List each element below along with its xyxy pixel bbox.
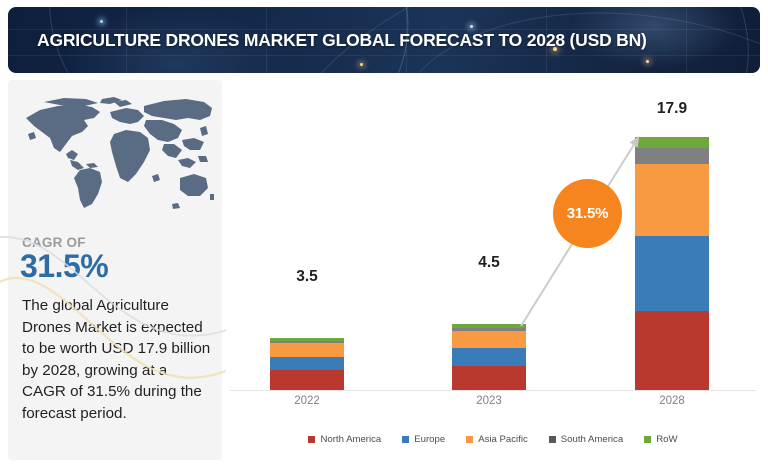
- bar-segment-europe: [635, 236, 709, 311]
- bar-segment-europe: [270, 357, 344, 370]
- legend-label: Asia Pacific: [478, 434, 528, 445]
- bar-column-2028[interactable]: [635, 137, 709, 390]
- bar-column-2023[interactable]: [452, 324, 526, 390]
- x-axis-label-2023: 2023: [434, 395, 544, 407]
- left-info-panel: CAGR OF 31.5% The global Agriculture Dro…: [8, 80, 222, 460]
- legend-item-south-america[interactable]: South America: [549, 434, 623, 445]
- cagr-bubble: 31.5%: [553, 179, 622, 248]
- bar-segment-europe: [452, 348, 526, 366]
- banner-gridline: [686, 7, 687, 73]
- bar-segment-asia-pacific: [452, 331, 526, 348]
- bar-segment-row: [635, 137, 709, 148]
- legend-item-row[interactable]: RoW: [644, 434, 677, 445]
- bar-total-2028: 17.9: [617, 100, 727, 118]
- chart-panel: 3.5 4.5 17.9 2022 2023 2028 31.5%: [226, 80, 760, 460]
- cagr-value: 31.5%: [20, 248, 108, 285]
- legend-swatch-north-america: [308, 436, 315, 443]
- infographic-root: AGRICULTURE DRONES MARKET GLOBAL FORECAS…: [0, 0, 768, 468]
- summary-paragraph: The global Agriculture Drones Market is …: [22, 295, 212, 424]
- bar-total-2022: 3.5: [252, 268, 362, 286]
- bar-total-2023: 4.5: [434, 254, 544, 272]
- legend-swatch-europe: [402, 436, 409, 443]
- bar-column-2022[interactable]: [270, 338, 344, 390]
- bar-segment-asia-pacific: [635, 164, 709, 236]
- page-title: AGRICULTURE DRONES MARKET GLOBAL FORECAS…: [37, 7, 647, 73]
- bar-segment-south-america: [635, 148, 709, 164]
- legend-swatch-south-america: [549, 436, 556, 443]
- legend-label: Europe: [414, 434, 445, 445]
- legend-label: RoW: [656, 434, 677, 445]
- bar-segment-asia-pacific: [270, 343, 344, 357]
- header-banner: AGRICULTURE DRONES MARKET GLOBAL FORECAS…: [8, 7, 760, 73]
- world-map-icon: [14, 90, 218, 215]
- bar-segment-north-america: [635, 311, 709, 390]
- legend-label: South America: [561, 434, 623, 445]
- legend-item-asia-pacific[interactable]: Asia Pacific: [466, 434, 528, 445]
- legend-item-europe[interactable]: Europe: [402, 434, 445, 445]
- bar-segment-north-america: [270, 370, 344, 390]
- chart-legend: North America Europe Asia Pacific South …: [226, 428, 760, 450]
- x-axis-line: [230, 390, 756, 391]
- x-axis-label-2022: 2022: [252, 395, 362, 407]
- legend-item-north-america[interactable]: North America: [308, 434, 381, 445]
- x-axis-label-2028: 2028: [617, 395, 727, 407]
- bar-segment-north-america: [452, 366, 526, 390]
- legend-swatch-row: [644, 436, 651, 443]
- legend-swatch-asia-pacific: [466, 436, 473, 443]
- legend-label: North America: [320, 434, 381, 445]
